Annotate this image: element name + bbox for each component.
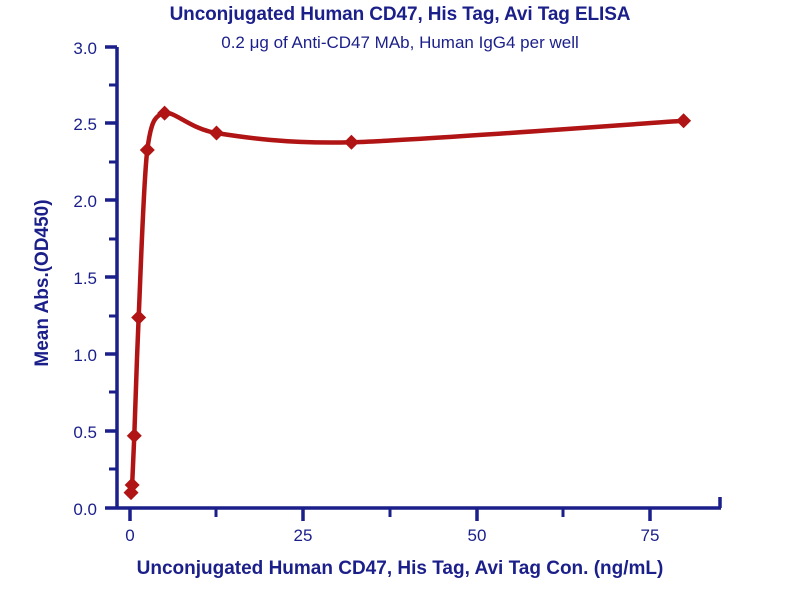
data-point-markers	[124, 106, 692, 501]
y-tick-label: 2.5	[73, 115, 97, 134]
chart-page: Unconjugated Human CD47, His Tag, Avi Ta…	[0, 0, 800, 600]
y-tick-label: 1.0	[73, 346, 97, 365]
elisa-plot: 3.0 2.5 2.0 1.5 1.0 0.5 0.0 0 25 50 75	[0, 0, 800, 600]
data-point-marker	[140, 142, 155, 157]
data-point-marker	[157, 106, 172, 121]
data-point-marker	[127, 428, 142, 443]
y-tick-label: 1.5	[73, 269, 97, 288]
y-tick-labels: 3.0 2.5 2.0 1.5 1.0 0.5 0.0	[73, 39, 97, 519]
x-tick-label: 75	[641, 526, 660, 545]
x-tick-label: 0	[125, 526, 134, 545]
y-tick-label: 3.0	[73, 39, 97, 58]
y-axis-label: Mean Abs.(OD450)	[32, 158, 54, 408]
data-point-marker	[131, 310, 146, 325]
data-point-marker	[676, 113, 691, 128]
y-tick-label: 0.5	[73, 423, 97, 442]
x-tick-label: 25	[294, 526, 313, 545]
fit-curve	[131, 113, 684, 493]
y-tick-label: 0.0	[73, 500, 97, 519]
x-axis-label: Unconjugated Human CD47, His Tag, Avi Ta…	[0, 558, 800, 580]
y-tick-label: 2.0	[73, 192, 97, 211]
data-point-marker	[344, 135, 359, 150]
y-major-ticks	[105, 47, 117, 508]
x-tick-label: 50	[468, 526, 487, 545]
data-point-marker	[209, 126, 224, 141]
x-tick-labels: 0 25 50 75	[125, 526, 659, 545]
